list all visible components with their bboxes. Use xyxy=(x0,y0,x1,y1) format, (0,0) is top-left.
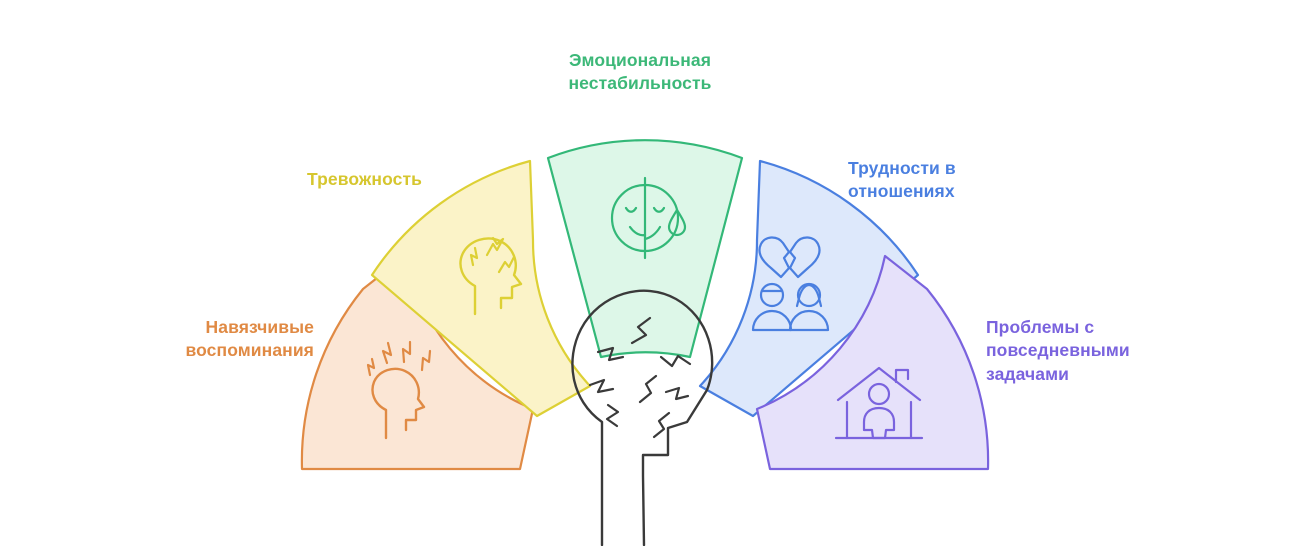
label-line-3: задачами xyxy=(986,363,1206,386)
label-line-2: нестабильность xyxy=(510,72,770,95)
label-line-1: Проблемы с xyxy=(986,316,1206,339)
label-line-1: Трудности в xyxy=(848,157,1048,180)
label-line-2: отношениях xyxy=(848,180,1048,203)
label-anxiety: Тревожность xyxy=(222,168,422,191)
label-line-2: воспоминания xyxy=(124,339,314,362)
label-line-1: Эмоциональная xyxy=(510,49,770,72)
label-daily-task-problems: Проблемы с повседневными задачами xyxy=(986,316,1206,386)
label-line-2: повседневными xyxy=(986,339,1206,362)
label-line-1: Тревожность xyxy=(222,168,422,191)
label-intrusive-memories: Навязчивые воспоминания xyxy=(124,316,314,363)
label-emotional-instability: Эмоциональная нестабильность xyxy=(510,49,770,96)
segment-emotional-instability[interactable] xyxy=(548,140,742,357)
label-relationship-difficulties: Трудности в отношениях xyxy=(848,157,1048,204)
diagram-canvas: Навязчивые воспоминания Тревожность Эмоц… xyxy=(0,0,1300,546)
label-line-1: Навязчивые xyxy=(124,316,314,339)
